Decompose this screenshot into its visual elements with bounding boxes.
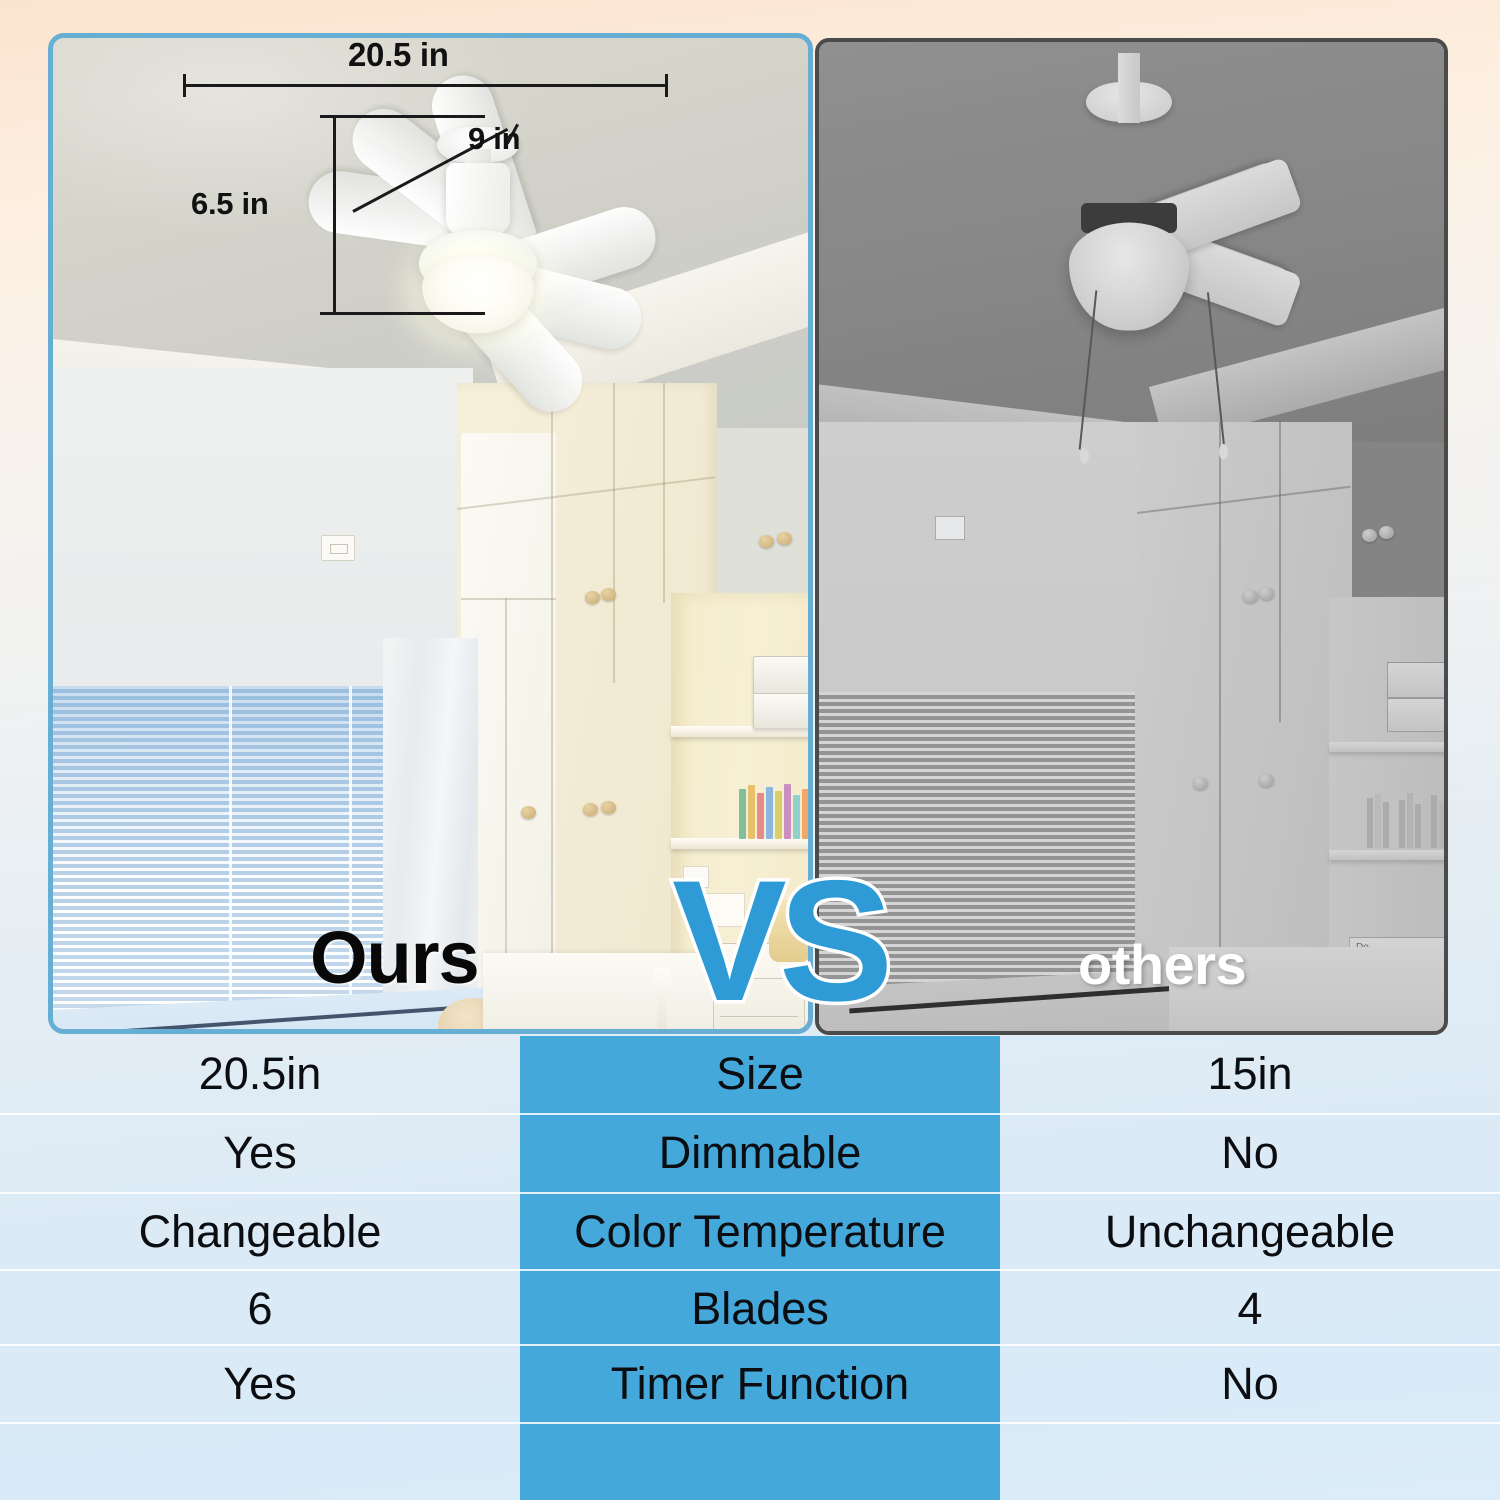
table-row: 20.5in Size 15in xyxy=(0,1036,1500,1111)
cabinet-knob xyxy=(601,801,616,814)
height-dimension-cap-top xyxy=(320,115,485,118)
cell-ours: 20.5in xyxy=(0,1036,520,1111)
width-dimension-cap-left xyxy=(183,74,186,97)
height-dimension-label: 6.5 in xyxy=(191,186,268,222)
cell-feature: Color Temperature xyxy=(520,1194,1000,1269)
storage-box: mini xyxy=(1387,698,1448,732)
ours-label: Ours xyxy=(310,915,479,1000)
row-separator xyxy=(0,1422,1500,1424)
blade-dimension-label: 9 in xyxy=(468,121,520,157)
cell-feature: Timer Function xyxy=(520,1346,1000,1421)
vs-badge: VS xyxy=(672,855,885,1027)
fan-light xyxy=(1069,223,1189,331)
comparison-table: 20.5in Size 15in Yes Dimmable No Changea… xyxy=(0,1036,1500,1500)
table-row: 6 Blades 4 xyxy=(0,1271,1500,1346)
pull-chain-end xyxy=(1080,448,1089,464)
cell-others: Unchangeable xyxy=(1000,1194,1500,1269)
cell-ours: Changeable xyxy=(0,1194,520,1269)
cell-ours: Yes xyxy=(0,1115,520,1190)
storage-box: mini xyxy=(1387,662,1448,698)
cabinet-knob xyxy=(777,532,792,545)
cell-feature: Dimmable xyxy=(520,1115,1000,1190)
fan-downrod xyxy=(1118,53,1140,123)
width-dimension-cap-right xyxy=(665,74,668,97)
fan-motor xyxy=(446,163,510,235)
table-row: Changeable Color Temperature Unchangeabl… xyxy=(0,1194,1500,1269)
table-row: Yes Timer Function No xyxy=(0,1346,1500,1421)
cabinet-knob xyxy=(759,535,774,548)
storage-box: mini xyxy=(753,656,813,694)
cell-others: 15in xyxy=(1000,1036,1500,1111)
cabinet-knob xyxy=(585,591,600,604)
wall-outlet xyxy=(935,516,965,540)
pull-chain-end xyxy=(1219,444,1228,460)
books xyxy=(739,783,813,839)
cell-others: No xyxy=(1000,1346,1500,1421)
others-label: others xyxy=(1078,932,1246,997)
height-dimension-cap-bottom xyxy=(320,312,485,315)
cell-feature: Blades xyxy=(520,1271,1000,1346)
ceiling-fan-others xyxy=(889,112,1369,372)
storage-box: mini xyxy=(753,693,813,729)
cabinet-knob xyxy=(583,803,598,816)
cabinet-knob xyxy=(601,588,616,601)
cabinet-knob xyxy=(521,806,536,819)
wall-outlet xyxy=(321,535,355,561)
books xyxy=(1367,790,1445,848)
cell-ours: 6 xyxy=(0,1271,520,1346)
cell-ours: Yes xyxy=(0,1346,520,1421)
height-dimension-line xyxy=(333,115,336,315)
width-dimension-line xyxy=(183,84,668,87)
others-product-photo: mini mini DoWhatYou Love xyxy=(815,38,1448,1035)
width-dimension-label: 20.5 in xyxy=(348,36,449,74)
table-row: Yes Dimmable No xyxy=(0,1115,1500,1190)
cell-feature: Size xyxy=(520,1036,1000,1111)
cell-others: 4 xyxy=(1000,1271,1500,1346)
ceiling-fan-ours xyxy=(208,138,748,368)
comparison-images: mini mini xyxy=(0,0,1500,1040)
cell-others: No xyxy=(1000,1115,1500,1190)
